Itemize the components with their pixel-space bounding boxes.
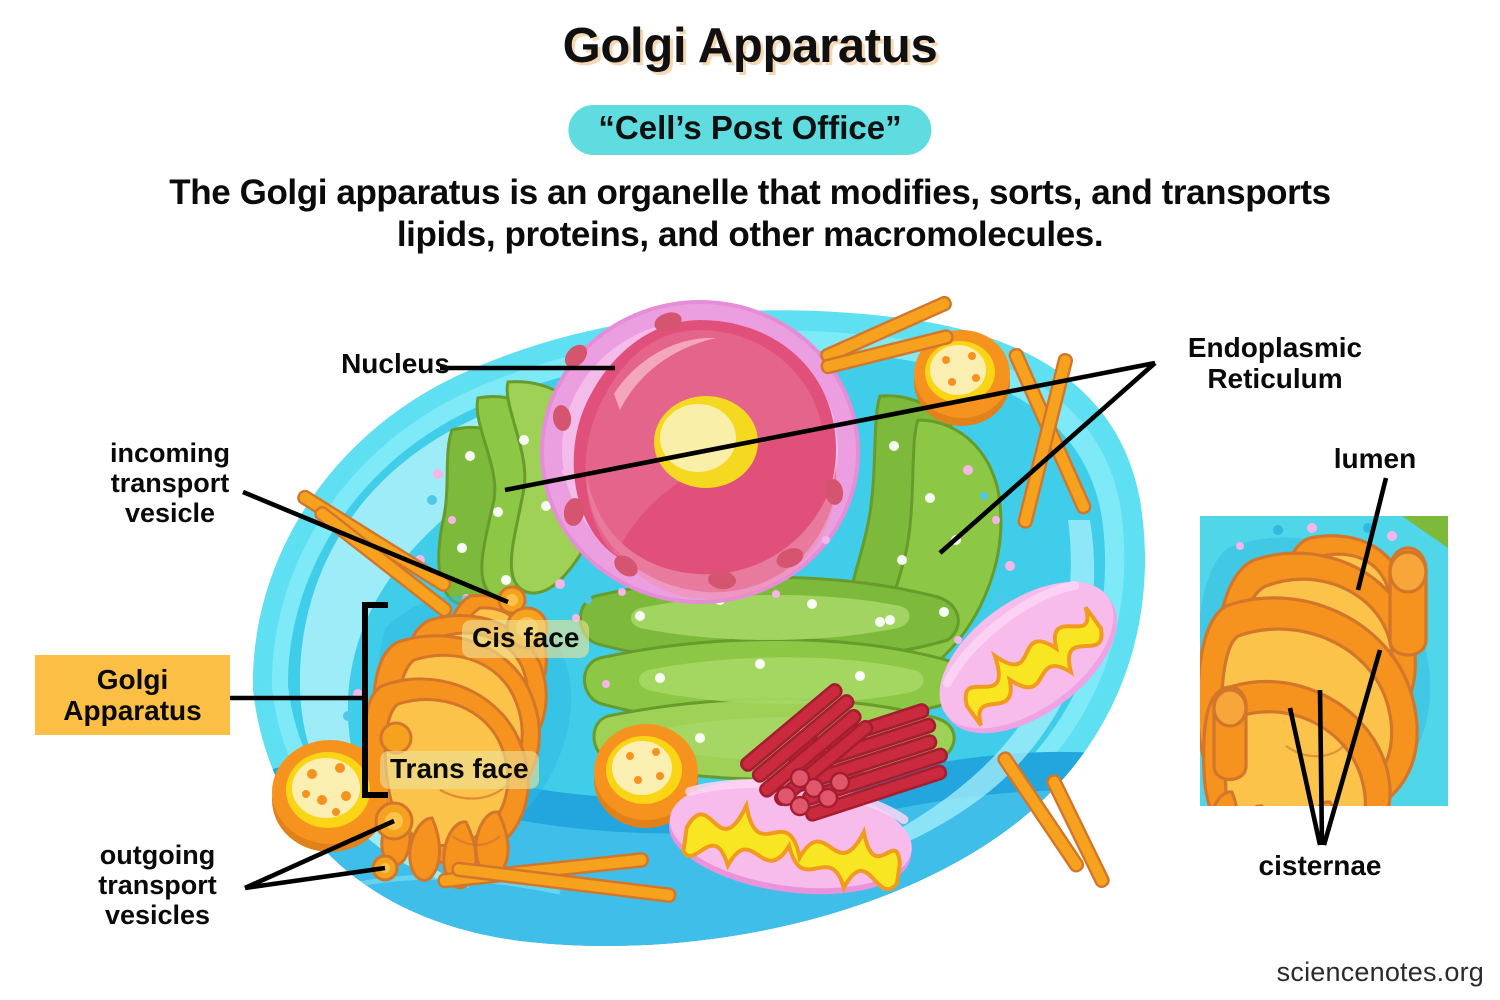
leader-cisternae-2 <box>1320 690 1322 845</box>
label-golgi-apparatus: Golgi Apparatus <box>35 655 230 735</box>
label-incoming-transport-vesicle: incoming transport vesicle <box>60 438 280 529</box>
label-trans-face: Trans face <box>380 751 539 789</box>
label-lumen: lumen <box>1310 443 1440 474</box>
diagram-canvas: Golgi Apparatus “Cell’s Post Office” The… <box>0 0 1500 1000</box>
label-cisternae: cisternae <box>1230 850 1410 881</box>
label-cis-face: Cis face <box>462 620 589 658</box>
label-endoplasmic-reticulum: Endoplasmic Reticulum <box>1160 332 1390 395</box>
watermark: sciencenotes.org <box>1277 957 1484 988</box>
label-outgoing-transport-vesicles: outgoing transport vesicles <box>55 840 260 931</box>
label-nucleus: Nucleus <box>250 348 450 379</box>
